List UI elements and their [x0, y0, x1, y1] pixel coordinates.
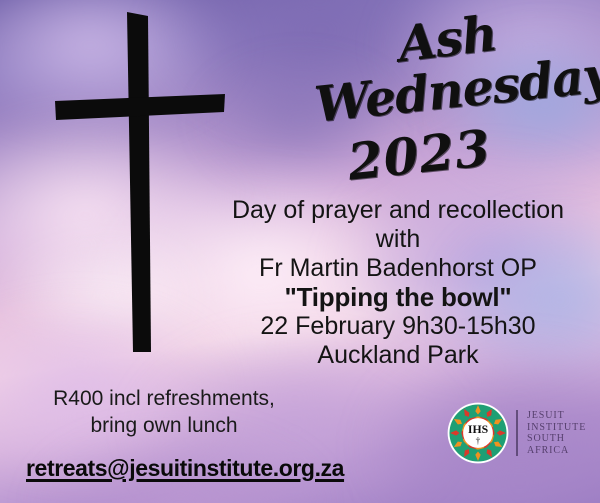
contact-email-link[interactable]: retreats@jesuitinstitute.org.za	[26, 455, 344, 482]
ihs-monogram-text: IHS	[468, 423, 489, 436]
price-line: R400 incl refreshments,	[14, 385, 314, 412]
logo-divider	[516, 410, 518, 456]
event-detail-line: with	[200, 225, 596, 254]
organisation-logo: IHS † Jesuit Institute South Africa	[447, 402, 586, 464]
organisation-name: Jesuit Institute South Africa	[527, 410, 586, 456]
event-detail-line: Day of prayer and recollection	[200, 196, 596, 225]
poster: Ash Wednesday 2023 Day of prayer and rec…	[0, 0, 600, 503]
event-details-block: Day of prayer and recollection with Fr M…	[200, 196, 596, 370]
event-location: Auckland Park	[200, 341, 596, 370]
organisation-name-line: Africa	[527, 445, 586, 457]
event-theme-title: "Tipping the bowl"	[200, 283, 596, 312]
ihs-sunburst-icon: IHS †	[447, 402, 509, 464]
ihs-cross-glyph: †	[476, 437, 481, 447]
organisation-name-line: Jesuit	[527, 410, 586, 422]
price-block: R400 incl refreshments, bring own lunch	[14, 385, 314, 439]
event-datetime: 22 February 9h30-15h30	[200, 312, 596, 341]
organisation-name-line: South	[527, 433, 586, 445]
event-speaker: Fr Martin Badenhorst OP	[200, 254, 596, 283]
organisation-name-line: Institute	[527, 422, 586, 434]
price-note: bring own lunch	[14, 412, 314, 439]
